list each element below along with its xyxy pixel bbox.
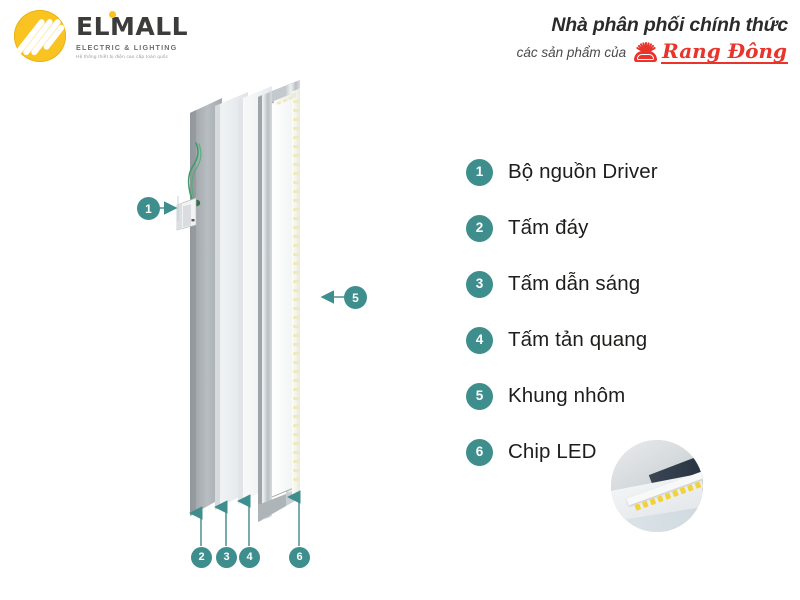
brand-text-block: ELMALL ELECTRIC & LIGHTING Hệ thống thiế… <box>76 14 188 59</box>
legend-badge-5: 5 <box>466 383 493 410</box>
page-header: ELMALL ELECTRIC & LIGHTING Hệ thống thiế… <box>0 0 800 86</box>
brand-subtagline: Hệ thống thiết bị điện cao cấp toàn quốc <box>76 54 188 59</box>
legend-badge-2: 2 <box>466 215 493 242</box>
brand-logo[interactable]: ELMALL ELECTRIC & LIGHTING Hệ thống thiế… <box>14 10 188 62</box>
layer-diffuser-plate <box>238 86 272 504</box>
callout-badge-1[interactable]: 1 <box>137 197 160 220</box>
callout-leaders <box>160 196 345 546</box>
callout-badge-3[interactable]: 3 <box>216 547 237 568</box>
legend-label-1: Bộ nguồn Driver <box>508 160 658 184</box>
elmall-circle-stripes-logo <box>14 10 66 62</box>
panel-front-face <box>262 80 300 497</box>
legend-item-5[interactable]: 5 Khung nhôm <box>466 368 776 424</box>
brand-tagline: ELECTRIC & LIGHTING <box>76 43 188 52</box>
legend-item-4[interactable]: 4 Tấm tản quang <box>466 312 776 368</box>
callout-badge-5[interactable]: 5 <box>344 286 367 309</box>
legend-badge-6: 6 <box>466 439 493 466</box>
distributor-subline-row: các sản phẩm của Rang Đông <box>517 41 788 64</box>
distributor-banner: Nhà phân phối chính thức các sản phẩm củ… <box>517 14 788 64</box>
rang-dong-sunburst-logo <box>633 42 658 63</box>
distributor-subline: các sản phẩm của <box>517 45 627 60</box>
layer-aluminium-frame <box>258 80 300 522</box>
legend-label-6: Chip LED <box>508 440 597 464</box>
driver-module <box>177 143 201 230</box>
layer-led-chip-strip <box>274 88 300 496</box>
legend-item-2[interactable]: 2 Tấm đáy <box>466 200 776 256</box>
legend-item-3[interactable]: 3 Tấm dẫn sáng <box>466 256 776 312</box>
legend-badge-3: 3 <box>466 271 493 298</box>
legend-label-3: Tấm dẫn sáng <box>508 272 640 296</box>
rang-dong-logo[interactable]: Rang Đông <box>633 41 788 64</box>
layer-light-guide-plate <box>215 92 248 510</box>
legend-label-5: Khung nhôm <box>508 384 625 408</box>
brand-wordmark: ELMALL <box>76 14 188 39</box>
legend-label-4: Tấm tản quang <box>508 328 647 352</box>
layer-bottom-plate <box>190 98 222 516</box>
legend-badge-4: 4 <box>466 327 493 354</box>
legend-badge-1: 1 <box>466 159 493 186</box>
legend-label-2: Tấm đáy <box>508 216 588 240</box>
legend-item-1[interactable]: 1 Bộ nguồn Driver <box>466 144 776 200</box>
rang-dong-wordmark: Rang Đông <box>661 41 788 64</box>
legend-list: 1 Bộ nguồn Driver 2 Tấm đáy 3 Tấm dẫn sá… <box>466 144 776 480</box>
callout-badge-2[interactable]: 2 <box>191 547 212 568</box>
callout-badge-4[interactable]: 4 <box>239 547 260 568</box>
led-chip-closeup-photo <box>611 440 703 532</box>
callout-badge-6[interactable]: 6 <box>289 547 310 568</box>
distributor-headline: Nhà phân phối chính thức <box>517 14 788 36</box>
